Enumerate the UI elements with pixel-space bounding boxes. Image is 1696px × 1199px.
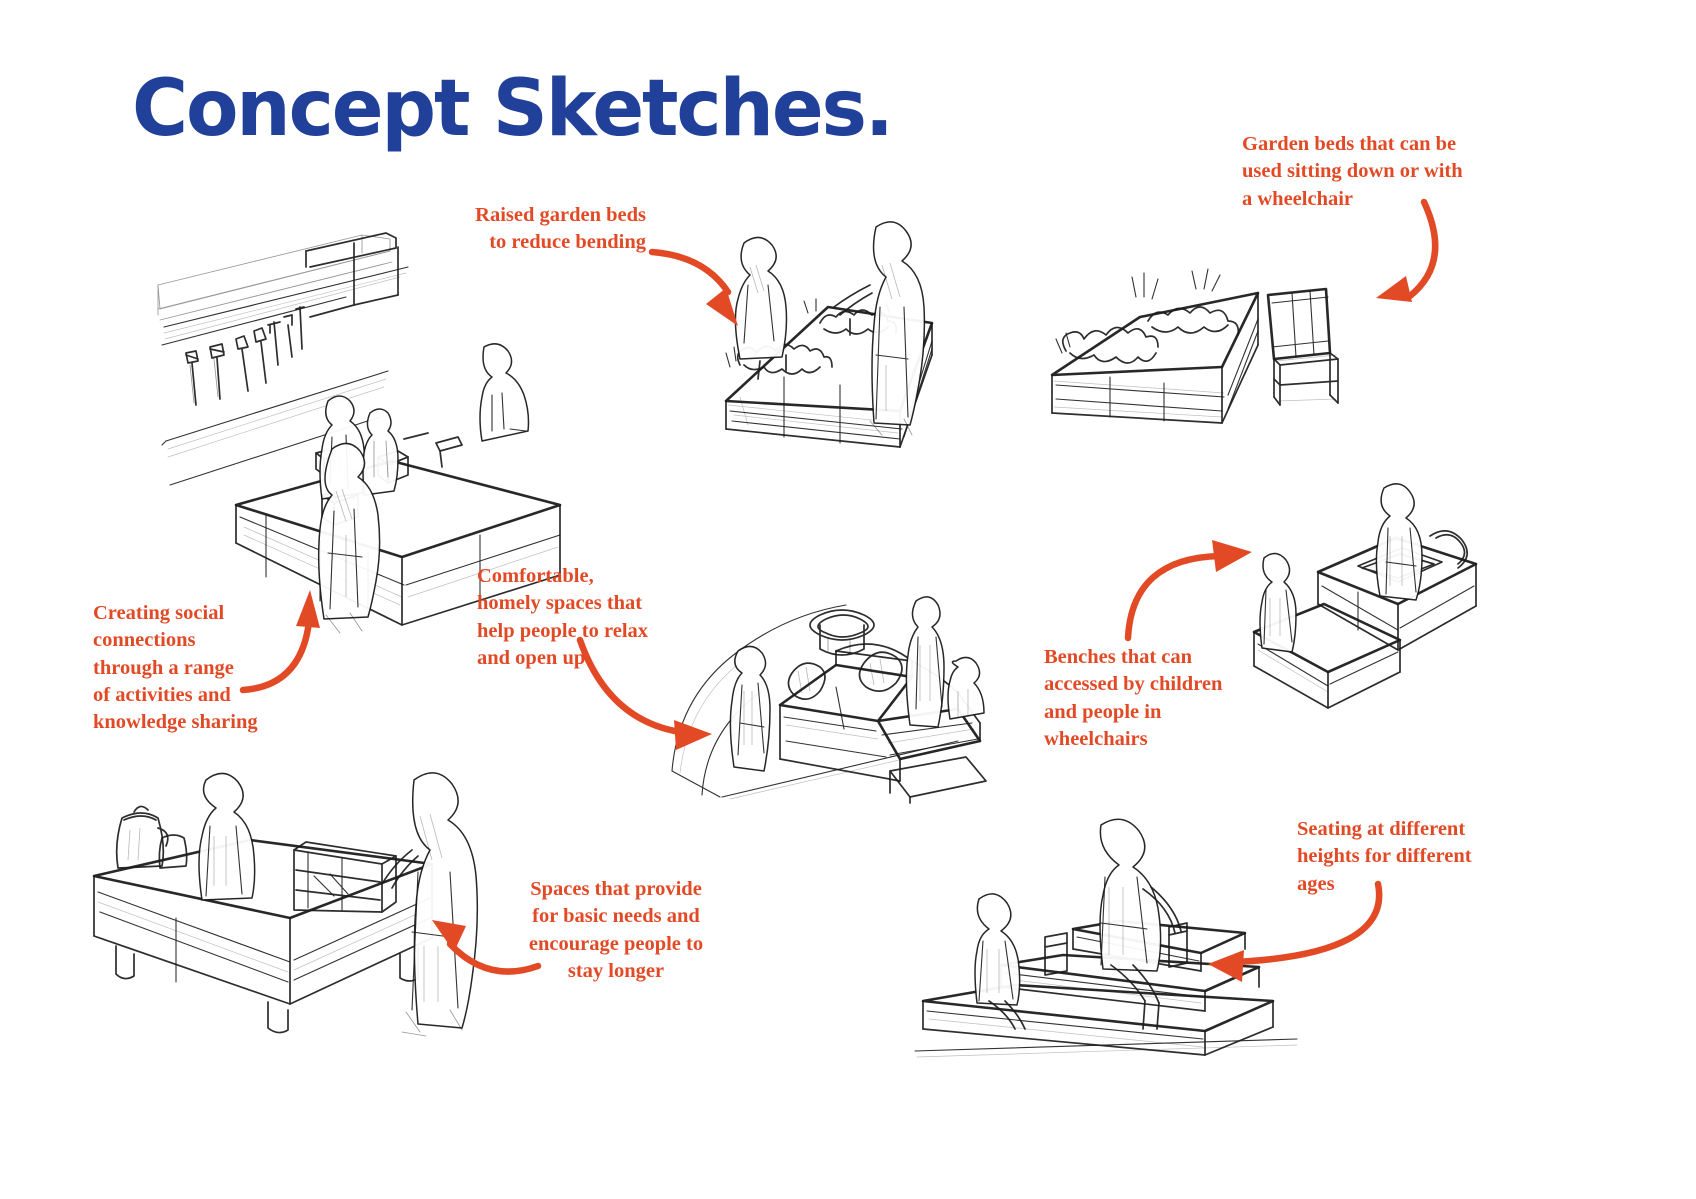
slide-canvas: Concept Sketches. (0, 0, 1696, 1199)
annotation-creating-social-connections: Creating social connections through a ra… (93, 600, 298, 736)
annotation-comfortable-homely-spaces: Comfortable, homely spaces that help peo… (477, 563, 665, 672)
arrow-to-planter-chair (1376, 202, 1435, 302)
annotation-seating-different-heights: Seating at different heights for differe… (1297, 816, 1497, 898)
arrow-to-bench (1128, 540, 1252, 638)
chair (1268, 289, 1330, 359)
counter (236, 461, 560, 557)
sketch-tiered-seating-steps (905, 815, 1305, 1075)
sketch-corner-sofa-lounge (660, 545, 990, 805)
annotation-garden-beds-wheelchair: Garden beds that can be used sitting dow… (1242, 131, 1498, 213)
annotation-benches-accessible: Benches that can accessed by children an… (1044, 644, 1234, 753)
annotation-spaces-basic-needs: Spaces that provide for basic needs and … (520, 876, 712, 985)
sketch-raised-planter-two-people (700, 215, 980, 475)
annotation-raised-garden-beds: Raised garden beds to reduce bending (404, 202, 646, 257)
wall-tools (186, 307, 304, 405)
sketch-kitchen-counter-bottom (80, 760, 500, 1040)
sketch-planter-with-chair (1040, 255, 1360, 455)
cushions (788, 652, 902, 699)
page-title: Concept Sketches. (132, 70, 892, 148)
sketch-bench-workbench (1240, 480, 1500, 740)
